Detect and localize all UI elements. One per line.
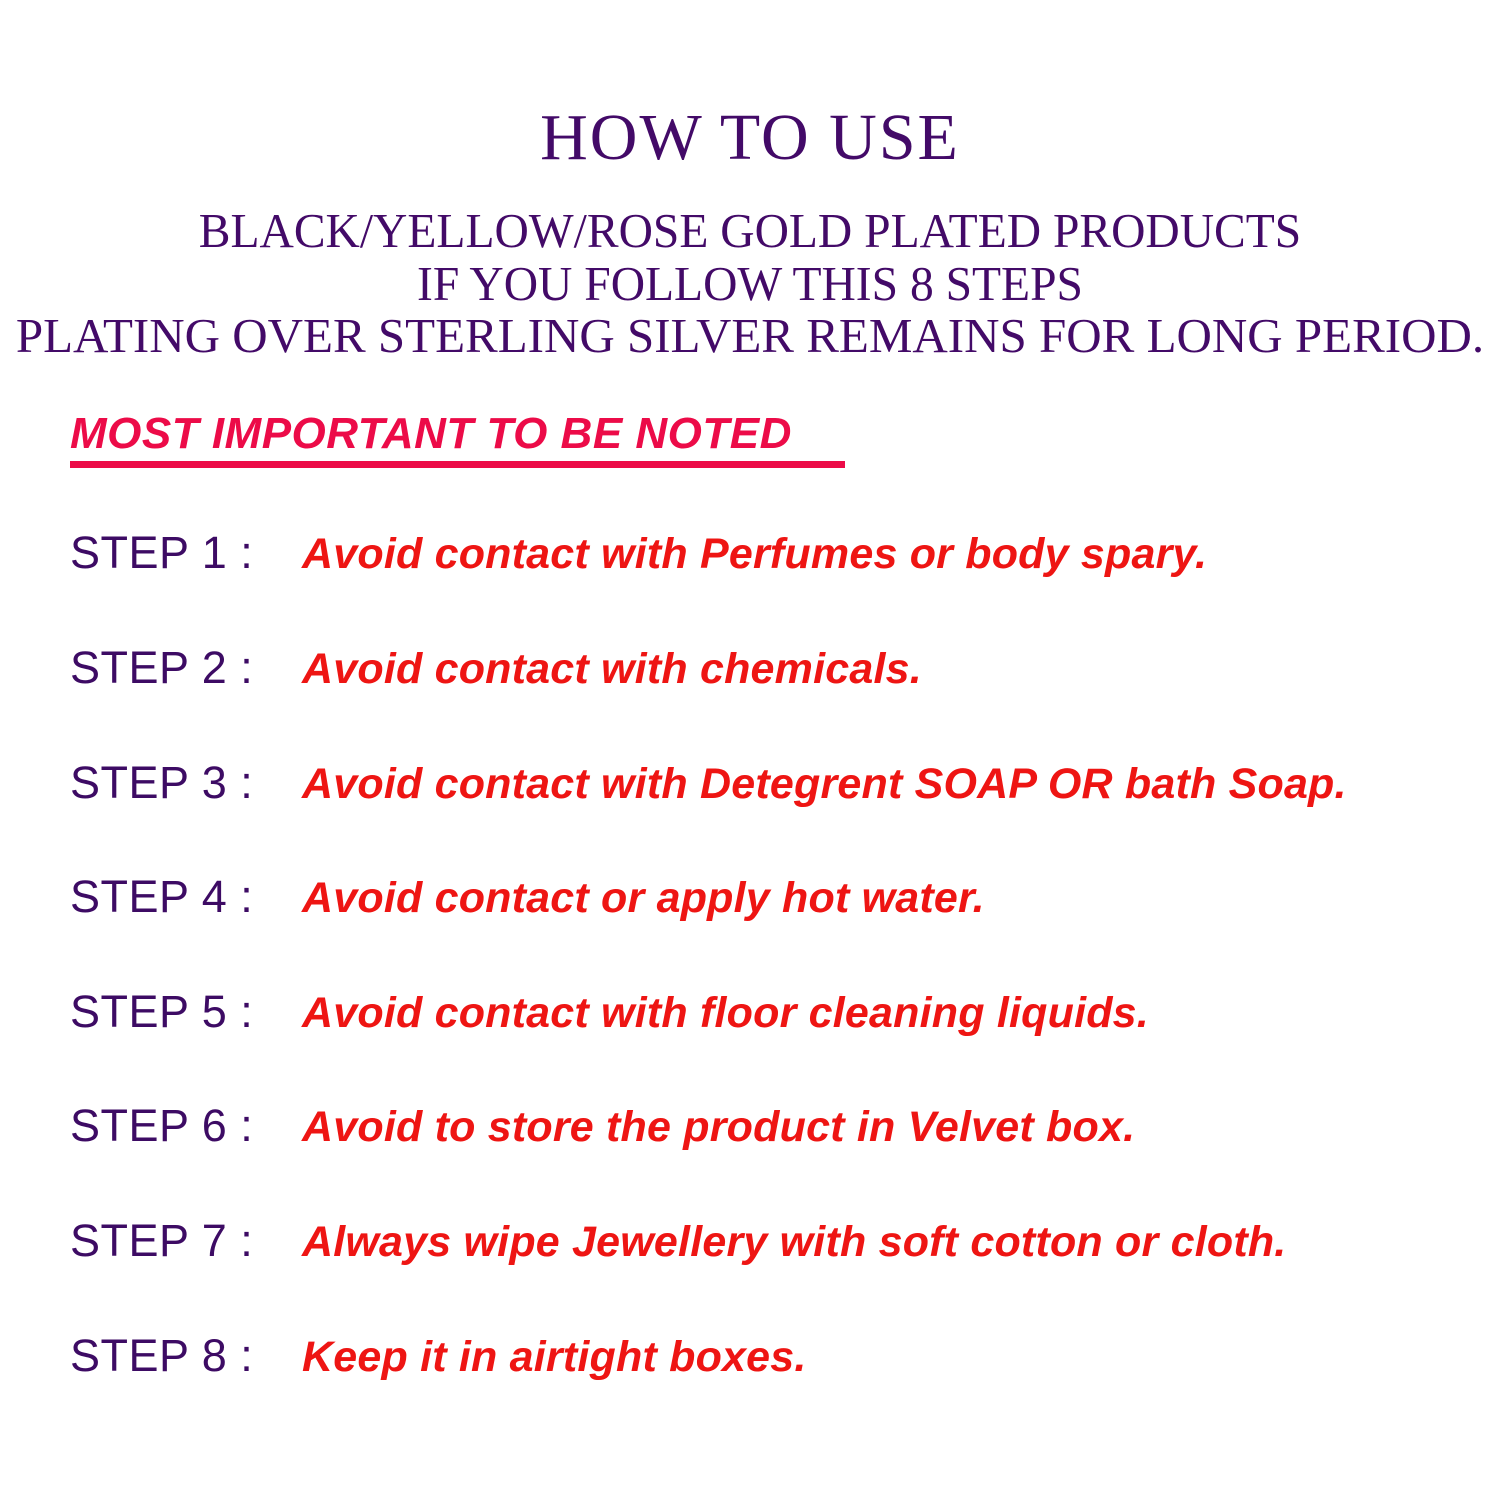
step-text-4: Avoid contact or apply hot water. bbox=[302, 869, 985, 927]
subtitle-line-2: IF YOU FOLLOW THIS 8 STEPS bbox=[23, 259, 1478, 308]
step-text-2: Avoid contact with chemicals. bbox=[302, 640, 922, 698]
subtitle-line-1: BLACK/YELLOW/ROSE GOLD PLATED PRODUCTS bbox=[23, 206, 1478, 255]
step-label-8: STEP 8 : bbox=[70, 1327, 302, 1385]
step-label-2: STEP 2 : bbox=[70, 639, 302, 697]
step-text-8: Keep it in airtight boxes. bbox=[302, 1328, 807, 1386]
step-label-7: STEP 7 : bbox=[70, 1212, 302, 1270]
step-row-5: STEP 5 :Avoid contact with floor cleanin… bbox=[70, 983, 1490, 1043]
step-row-8: STEP 8 :Keep it in airtight boxes. bbox=[70, 1327, 1490, 1387]
step-text-6: Avoid to store the product in Velvet box… bbox=[302, 1098, 1135, 1156]
notice-heading: MOST IMPORTANT TO BE NOTED bbox=[70, 412, 792, 456]
step-row-7: STEP 7 :Always wipe Jewellery with soft … bbox=[70, 1212, 1490, 1272]
step-text-3: Avoid contact with Detegrent SOAP OR bat… bbox=[302, 755, 1347, 813]
page-title: HOW TO USE bbox=[0, 105, 1500, 171]
step-label-3: STEP 3 : bbox=[70, 754, 302, 812]
step-row-1: STEP 1 :Avoid contact with Perfumes or b… bbox=[70, 524, 1490, 584]
step-row-6: STEP 6 :Avoid to store the product in Ve… bbox=[70, 1097, 1490, 1157]
step-row-2: STEP 2 :Avoid contact with chemicals. bbox=[70, 639, 1490, 699]
notice-underline bbox=[70, 461, 845, 468]
step-label-4: STEP 4 : bbox=[70, 868, 302, 926]
step-text-5: Avoid contact with floor cleaning liquid… bbox=[302, 984, 1149, 1042]
step-text-1: Avoid contact with Perfumes or body spar… bbox=[302, 525, 1207, 583]
step-label-1: STEP 1 : bbox=[70, 524, 302, 582]
step-row-4: STEP 4 :Avoid contact or apply hot water… bbox=[70, 868, 1490, 928]
step-label-5: STEP 5 : bbox=[70, 983, 302, 1041]
step-label-6: STEP 6 : bbox=[70, 1097, 302, 1155]
subtitle-line-3: PLATING OVER STERLING SILVER REMAINS FOR… bbox=[0, 311, 1500, 360]
step-row-3: STEP 3 :Avoid contact with Detegrent SOA… bbox=[70, 754, 1490, 814]
how-to-use-page: HOW TO USE BLACK/YELLOW/ROSE GOLD PLATED… bbox=[0, 0, 1500, 1500]
step-text-7: Always wipe Jewellery with soft cotton o… bbox=[302, 1213, 1286, 1271]
